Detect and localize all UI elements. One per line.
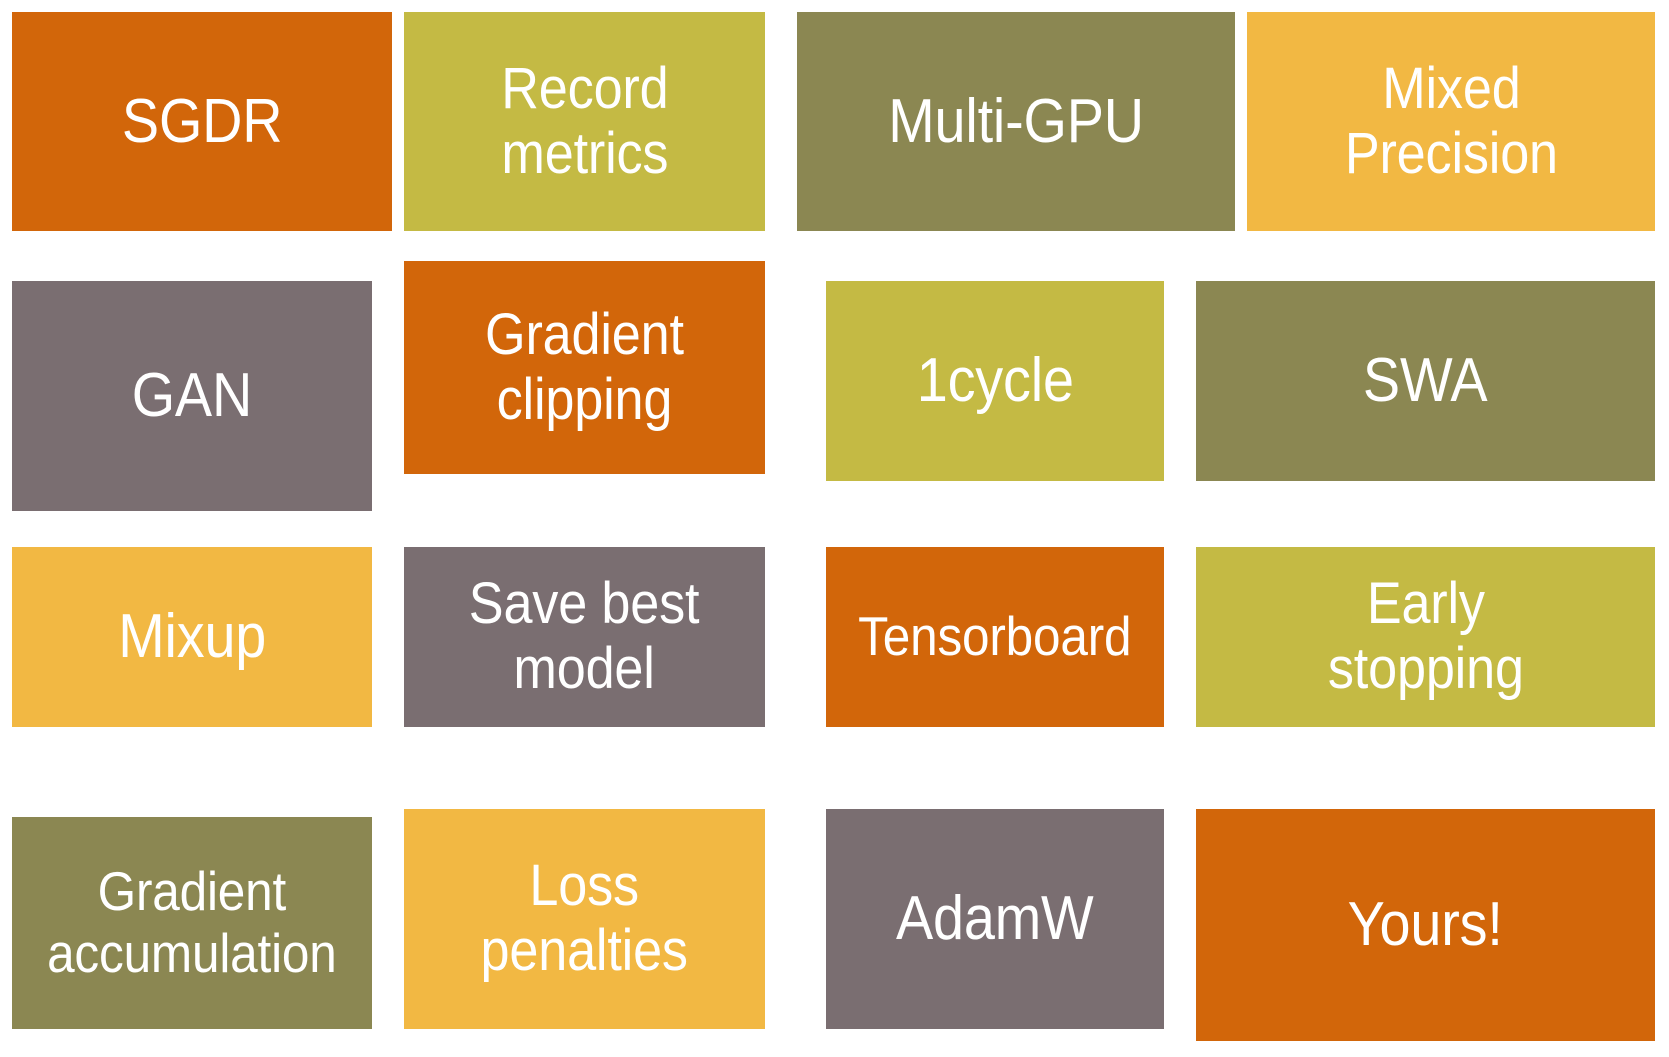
tile-loss-penalties[interactable]: Loss penalties [404,809,765,1029]
tile-label: 1cycle [909,346,1080,415]
tile-multi-gpu[interactable]: Multi-GPU [797,12,1235,231]
tile-tensorboard[interactable]: Tensorboard [826,547,1164,727]
tile-mixed-precision[interactable]: Mixed Precision [1247,12,1655,231]
tile-label: Early stopping [1320,572,1530,702]
tile-label: Tensorboard [851,606,1139,668]
tile-label: Save best model [462,572,707,702]
tile-sgdr[interactable]: SGDR [12,12,392,231]
tile-gan[interactable]: GAN [12,281,372,511]
tile-label: Mixed Precision [1337,57,1564,187]
tile-grid-board: SGDRRecord metricsMulti-GPUMixed Precisi… [0,0,1669,1057]
tile-label: Yours! [1341,890,1510,959]
tile-label: Gradient clipping [478,303,691,433]
tile-swa[interactable]: SWA [1196,281,1655,481]
tile-label: Mixup [111,602,273,671]
tile-gradient-accumulation[interactable]: Gradient accumulation [12,817,372,1029]
tile-label: Gradient accumulation [40,861,344,984]
tile-1cycle[interactable]: 1cycle [826,281,1164,481]
tile-record-metrics[interactable]: Record metrics [404,12,765,231]
tile-label: GAN [125,361,260,430]
tile-gradient-clipping[interactable]: Gradient clipping [404,261,765,474]
tile-label: Record metrics [494,57,676,187]
tile-label: Loss penalties [474,854,696,984]
tile-save-best-model[interactable]: Save best model [404,547,765,727]
tile-label: AdamW [889,884,1101,953]
tile-label: SWA [1356,346,1495,415]
tile-early-stopping[interactable]: Early stopping [1196,547,1655,727]
tile-mixup[interactable]: Mixup [12,547,372,727]
tile-yours[interactable]: Yours! [1196,809,1655,1041]
tile-adamw[interactable]: AdamW [826,809,1164,1029]
tile-label: Multi-GPU [881,87,1151,156]
tile-label: SGDR [115,87,290,156]
